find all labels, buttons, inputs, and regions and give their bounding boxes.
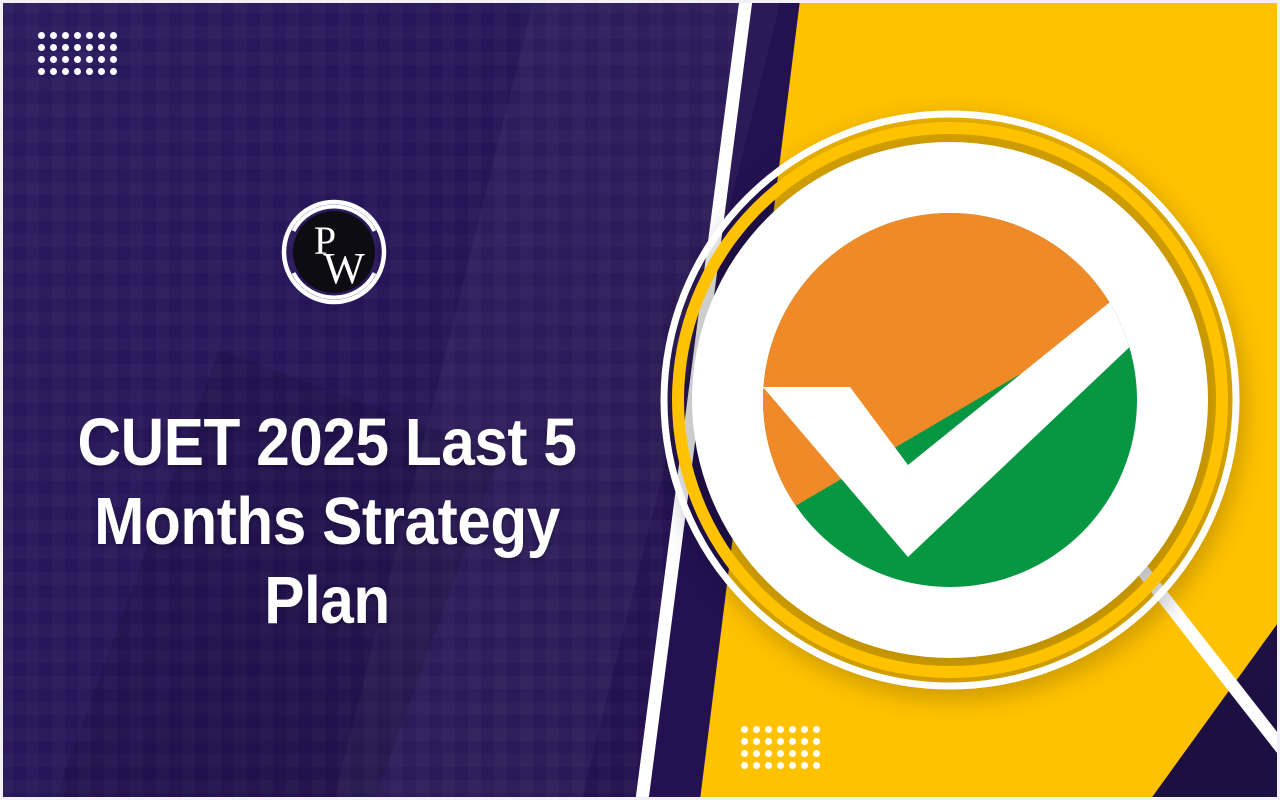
dot <box>765 726 772 733</box>
dot <box>50 44 57 51</box>
dot <box>86 56 93 63</box>
dot-grid-bottom-center <box>741 726 825 774</box>
dot <box>777 750 784 757</box>
dot <box>98 68 105 75</box>
dot <box>74 44 81 51</box>
dot <box>62 56 69 63</box>
dot <box>813 738 820 745</box>
dot <box>765 750 772 757</box>
dot <box>789 738 796 745</box>
dot-grid-top-left <box>38 32 122 80</box>
dot <box>801 726 808 733</box>
dot <box>789 726 796 733</box>
dot <box>765 762 772 769</box>
dot <box>741 762 748 769</box>
dot <box>741 750 748 757</box>
dot <box>98 32 105 39</box>
dot <box>741 738 748 745</box>
dot <box>38 68 45 75</box>
dot <box>777 726 784 733</box>
dot <box>86 44 93 51</box>
dot <box>777 738 784 745</box>
dot <box>801 738 808 745</box>
dot <box>801 762 808 769</box>
dot <box>50 56 57 63</box>
dot <box>110 44 117 51</box>
page-title-line-2: Months Strategy <box>45 482 608 561</box>
dot <box>789 762 796 769</box>
dot <box>50 68 57 75</box>
cuet-strategy-banner: P W CUET 2025 Last 5 Months Strategy Pla… <box>0 0 1280 800</box>
dot <box>813 762 820 769</box>
dot <box>62 32 69 39</box>
page-title-line-1: CUET 2025 Last 5 <box>45 403 608 482</box>
dot <box>813 726 820 733</box>
page-title: CUET 2025 Last 5 Months Strategy Plan <box>45 403 608 640</box>
dot <box>753 750 760 757</box>
dot <box>62 44 69 51</box>
dot <box>777 762 784 769</box>
dot <box>110 32 117 39</box>
dot <box>74 32 81 39</box>
pw-logo-letter-w: W <box>323 244 365 293</box>
dot <box>62 68 69 75</box>
dot <box>110 68 117 75</box>
dot <box>74 68 81 75</box>
pw-brand-logo: P W <box>278 196 390 308</box>
dot <box>74 56 81 63</box>
page-title-line-3: Plan <box>45 561 608 640</box>
dot <box>813 750 820 757</box>
dot <box>789 750 796 757</box>
dot <box>38 56 45 63</box>
dot <box>753 738 760 745</box>
dot <box>98 56 105 63</box>
dot <box>86 68 93 75</box>
dot <box>110 56 117 63</box>
dot <box>801 750 808 757</box>
dot <box>765 738 772 745</box>
dot <box>741 726 748 733</box>
dot <box>50 32 57 39</box>
dot <box>753 726 760 733</box>
dot <box>38 32 45 39</box>
dot <box>753 762 760 769</box>
dot <box>98 44 105 51</box>
dot <box>86 32 93 39</box>
cuet-emblem <box>655 105 1245 695</box>
dot <box>38 44 45 51</box>
